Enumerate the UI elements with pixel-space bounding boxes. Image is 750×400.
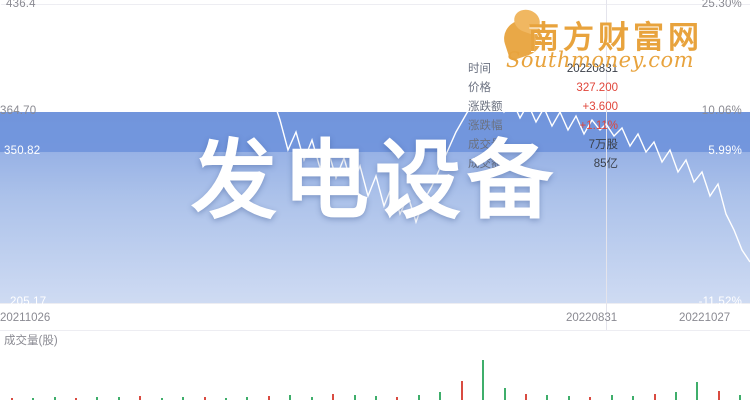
volume-bar <box>611 395 613 400</box>
volume-bar <box>332 394 334 400</box>
volume-bar <box>739 395 741 400</box>
volume-panel-divider <box>0 330 750 331</box>
tooltip-row: 价格 327.200 <box>468 79 618 98</box>
y-axis-tick-left-0: 436.4 <box>6 0 36 10</box>
tooltip-key: 时间 <box>468 60 491 79</box>
y-axis-tick-left-3: 205.17 <box>10 296 46 308</box>
y-axis-tick-left-1: 364.70 <box>0 105 36 117</box>
volume-bar <box>354 395 356 400</box>
volume-bar <box>504 388 506 400</box>
volume-bar <box>482 360 484 400</box>
chart-screenshot: 436.4 364.70 350.82 205.17 25.30% 10.06%… <box>0 0 750 400</box>
volume-bar <box>718 391 720 400</box>
tooltip-key: 涨跌额 <box>468 98 503 117</box>
volume-bar <box>375 396 377 400</box>
volume-bar <box>268 396 270 400</box>
volume-bar <box>139 396 141 400</box>
tooltip-row: 涨跌额 +3.600 <box>468 98 618 117</box>
watermark-en-text: Southmoney.com <box>506 48 694 72</box>
tooltip-value: +1.11% <box>580 117 618 136</box>
volume-bar <box>632 396 634 400</box>
tooltip-value: 327.200 <box>576 79 618 98</box>
x-axis-tick-0: 20211026 <box>0 312 50 324</box>
volume-bar <box>546 395 548 400</box>
volume-bar <box>696 382 698 400</box>
volume-bar <box>675 392 677 400</box>
volume-bar <box>439 392 441 400</box>
y-axis-tick-right-0: 25.30% <box>702 0 742 10</box>
volume-chart-panel: 成交量(股) <box>0 330 750 400</box>
tooltip-key: 价格 <box>468 79 491 98</box>
volume-bar <box>654 394 656 400</box>
y-axis-tick-right-3: -11.52% <box>699 296 742 308</box>
volume-bar <box>525 394 527 400</box>
x-axis-tick-2: 20221027 <box>679 312 730 324</box>
tooltip-value: +3.600 <box>583 98 619 117</box>
x-axis-tick-1: 20220831 <box>566 312 617 324</box>
y-axis-tick-right-1: 10.06% <box>702 105 742 117</box>
volume-bar <box>568 396 570 400</box>
watermark: 南方财富网 Southmoney.com <box>504 14 736 78</box>
volume-panel-label: 成交量(股) <box>4 332 58 348</box>
volume-bar <box>289 395 291 400</box>
overlay-title: 发电设备 <box>0 138 750 224</box>
volume-bar <box>461 381 463 400</box>
volume-bar <box>418 395 420 400</box>
price-chart-plot: 436.4 364.70 350.82 205.17 25.30% 10.06%… <box>0 0 750 330</box>
